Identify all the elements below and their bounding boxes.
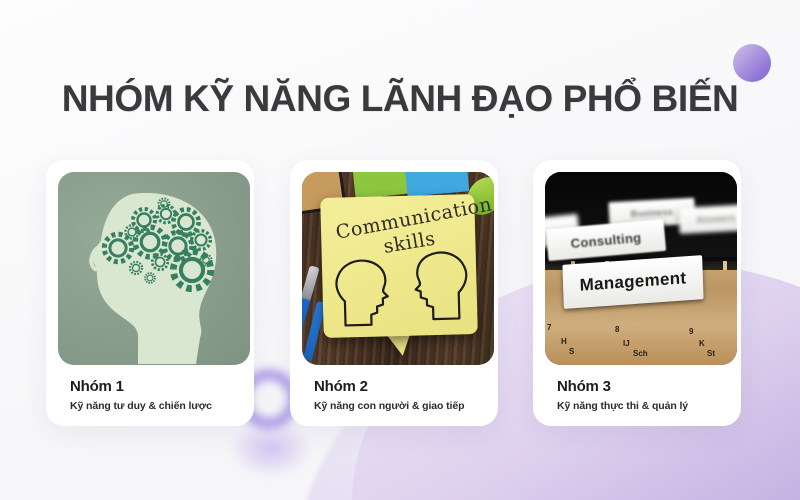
card-2-thumbnail: Communication skills: [302, 172, 494, 365]
index-letter: H: [561, 337, 567, 346]
folder-tab-answers: Answers: [678, 204, 737, 234]
index-letter: 7: [547, 323, 551, 332]
index-letter: Sch: [633, 349, 648, 358]
two-heads-outline-icon: [320, 194, 478, 338]
index-letter: 8: [615, 325, 619, 334]
card-nhom-3[interactable]: 7 8 9 H S IJ Sch K St Business: [533, 160, 741, 426]
page-title: NHÓM KỸ NĂNG LÃNH ĐẠO PHỔ BIẾN: [0, 78, 800, 120]
card-1-subtitle: Kỹ năng tư duy & chiến lược: [70, 400, 242, 412]
card-3-subtitle: Kỹ năng thực thi & quản lý: [557, 400, 729, 412]
blue-book: [405, 172, 470, 197]
sticky-note: Communication skills: [320, 194, 478, 338]
card-3-title: Nhóm 3: [557, 378, 729, 395]
index-letter: S: [569, 347, 574, 356]
card-2-title: Nhóm 2: [314, 378, 486, 395]
card-nhom-1[interactable]: Nhóm 1 Kỹ năng tư duy & chiến lược: [46, 160, 254, 426]
card-1-title: Nhóm 1: [70, 378, 242, 395]
card-3-thumbnail: 7 8 9 H S IJ Sch K St Business: [545, 172, 737, 365]
slide-canvas: NHÓM KỸ NĂNG LÃNH ĐẠO PHỔ BIẾN: [0, 0, 800, 500]
index-letters: 7 8 9 H S IJ Sch K St: [545, 321, 737, 363]
gradient-circle-top-right-icon: [733, 44, 771, 82]
card-2-subtitle: Kỹ năng con người & giao tiếp: [314, 400, 486, 412]
index-letter: St: [707, 349, 715, 358]
index-letter: K: [699, 339, 705, 348]
card-1-thumbnail: [58, 172, 250, 365]
card-nhom-2[interactable]: Communication skills Nhóm 2 Kỹ năng con …: [290, 160, 498, 426]
index-letter: 9: [689, 327, 693, 336]
brain-gears-icon: [88, 186, 228, 365]
purple-glow: [228, 418, 314, 478]
index-letter: IJ: [623, 339, 630, 348]
